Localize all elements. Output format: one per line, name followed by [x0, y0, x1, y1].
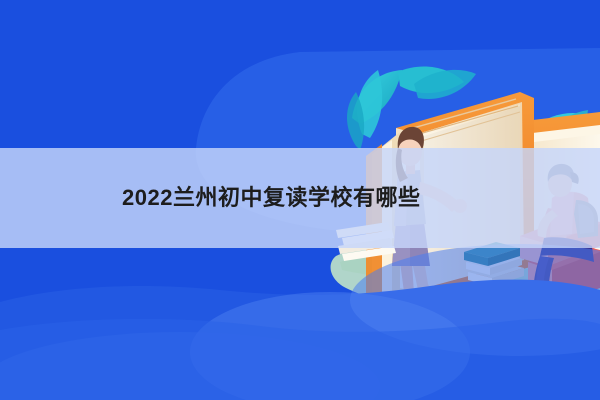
- illustration-layer: [0, 0, 600, 400]
- banner-image: 2022兰州初中复读学校有哪些: [0, 0, 600, 400]
